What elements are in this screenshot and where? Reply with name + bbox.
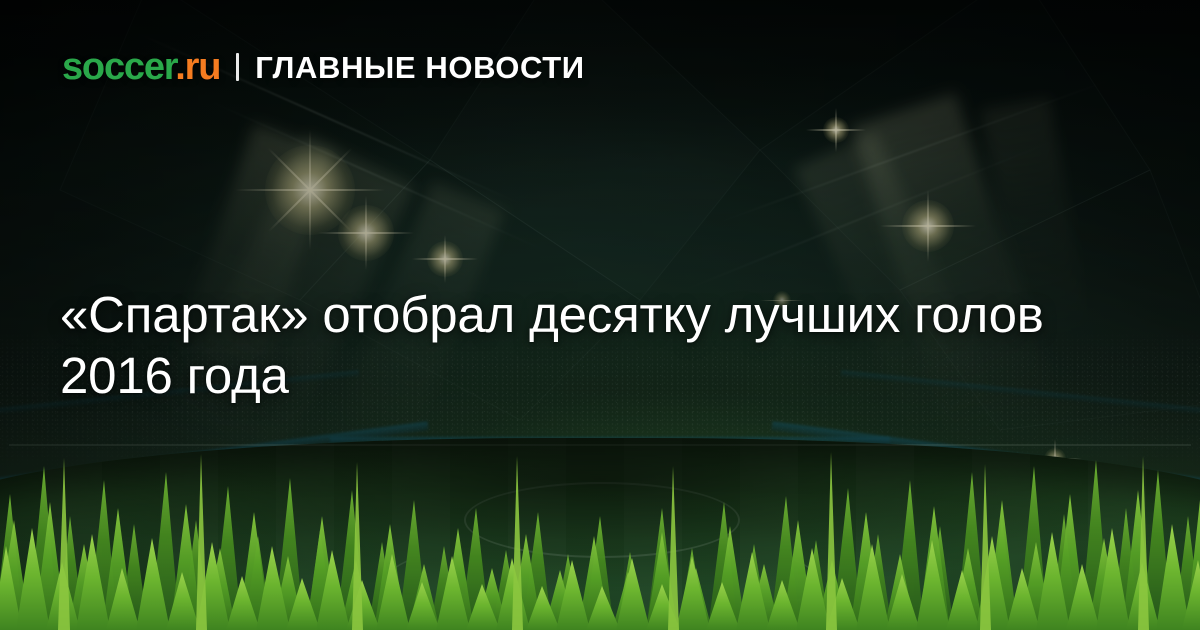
header-divider: [236, 53, 239, 81]
article-headline: «Спартак» отобрал десятку лучших голов 2…: [60, 284, 1130, 406]
logo-text-soccer: soccer: [62, 46, 175, 88]
brand-header: soccer.ru ГЛАВНЫЕ НОВОСТИ: [62, 48, 585, 86]
logo-text-ru: .ru: [175, 46, 220, 88]
card-content: soccer.ru ГЛАВНЫЕ НОВОСТИ «Спартак» отоб…: [0, 0, 1200, 630]
social-share-card: soccer.ru ГЛАВНЫЕ НОВОСТИ «Спартак» отоб…: [0, 0, 1200, 630]
soccer-ru-logo[interactable]: soccer.ru: [62, 48, 220, 86]
section-kicker: ГЛАВНЫЕ НОВОСТИ: [255, 52, 584, 83]
